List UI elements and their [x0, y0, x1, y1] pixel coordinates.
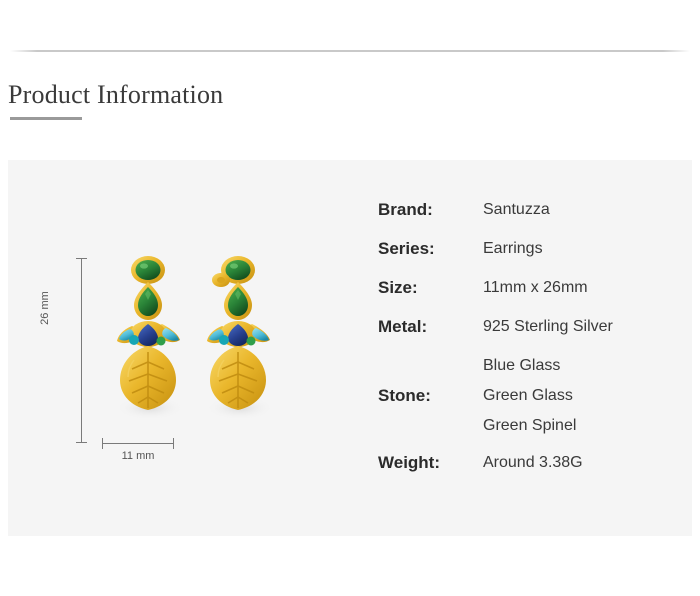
spec-value-brand: Santuzza [483, 200, 550, 220]
spec-values-stone: Blue Glass Green Glass Green Spinel [483, 356, 576, 436]
width-dimension-label: 11 mm [108, 450, 168, 462]
spec-values-size: 11mm x 26mm [483, 278, 588, 298]
spec-row-series: Series: Earrings [378, 239, 678, 259]
spec-value-stone-1: Blue Glass [483, 356, 576, 376]
earrings-product-image [88, 240, 288, 440]
spec-label-metal: Metal: [378, 317, 483, 337]
spec-row-weight: Weight: Around 3.38G [378, 453, 678, 473]
spec-values-brand: Santuzza [483, 200, 550, 220]
spec-value-stone-2: Green Glass [483, 386, 576, 406]
spec-label-weight: Weight: [378, 453, 483, 473]
spec-value-metal: 925 Sterling Silver [483, 317, 613, 337]
height-dimension-label: 26 mm [39, 291, 51, 325]
top-divider [10, 50, 690, 52]
title-underline [10, 117, 82, 120]
product-spec-list: Brand: Santuzza Series: Earrings Size: 1… [378, 200, 678, 492]
spec-row-stone: Stone: Blue Glass Green Glass Green Spin… [378, 356, 678, 436]
spec-values-weight: Around 3.38G [483, 453, 583, 473]
spec-label-brand: Brand: [378, 200, 483, 220]
spec-values-metal: 925 Sterling Silver [483, 317, 613, 337]
spec-value-series: Earrings [483, 239, 543, 259]
spec-value-size: 11mm x 26mm [483, 278, 588, 298]
page-title: Product Information [8, 80, 223, 110]
product-image-area: 26 mm 11 mm [40, 220, 320, 500]
spec-label-series: Series: [378, 239, 483, 259]
spec-row-size: Size: 11mm x 26mm [378, 278, 678, 298]
spec-row-metal: Metal: 925 Sterling Silver [378, 317, 678, 337]
spec-label-size: Size: [378, 278, 483, 298]
spec-row-brand: Brand: Santuzza [378, 200, 678, 220]
spec-values-series: Earrings [483, 239, 543, 259]
spec-value-weight: Around 3.38G [483, 453, 583, 473]
spec-value-stone-3: Green Spinel [483, 416, 576, 436]
height-dimension-bar [76, 258, 86, 443]
spec-label-stone: Stone: [378, 386, 483, 406]
